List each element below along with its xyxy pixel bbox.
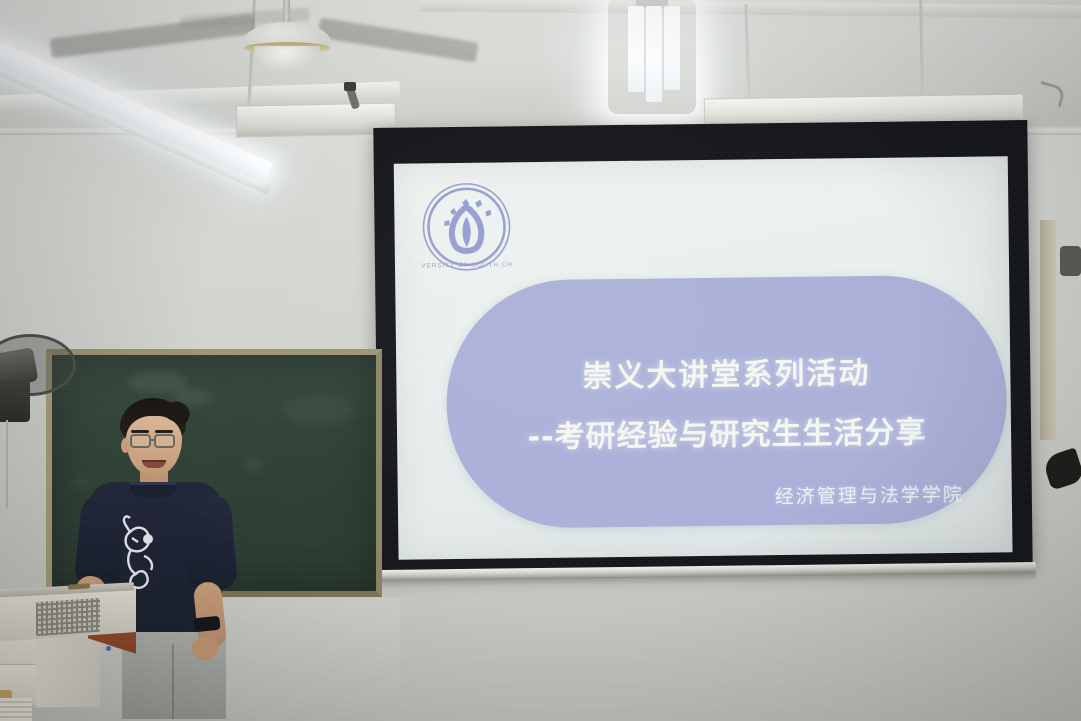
- projection-screen: UNIVERSITY OF SOUTH CHINA 崇义大讲堂系列活动 --考研…: [373, 120, 1032, 574]
- presenter-ear: [121, 438, 130, 453]
- presenter-sleeve: [182, 492, 238, 592]
- emblem-ring-text: UNIVERSITY OF SOUTH CHINA: [420, 261, 513, 269]
- lamp-tube: [646, 6, 662, 102]
- fan-pull-cord: [6, 420, 8, 508]
- lectern-podium: [0, 586, 146, 721]
- lecture-hall-photo: UNIVERSITY OF SOUTH CHINA 崇义大讲堂系列活动 --考研…: [0, 0, 1081, 721]
- presenter-eyebrow: [131, 430, 149, 433]
- fan-body: [0, 380, 30, 422]
- slide-title-pill: 崇义大讲堂系列活动 --考研经验与研究生生活分享 经济管理与法学学院: [445, 274, 1008, 529]
- podium-column: [36, 631, 100, 707]
- speaker-grille: [36, 598, 100, 636]
- wall-fixture: [1060, 246, 1081, 276]
- hanging-fluorescent-lamp: [622, 0, 682, 110]
- paper-stack: [0, 698, 32, 721]
- eyeglasses-lens: [154, 434, 175, 448]
- eyeglasses-bridge: [150, 439, 156, 441]
- slide-subtitle: --考研经验与研究生生活分享: [527, 407, 926, 456]
- tshirt-cartoon-print-icon: [118, 512, 164, 590]
- presentation-slide: UNIVERSITY OF SOUTH CHINA 崇义大讲堂系列活动 --考研…: [394, 156, 1013, 559]
- chalk-smudge: [282, 395, 356, 425]
- projector-screen-roller-housing: [236, 102, 397, 137]
- lamp-tube: [628, 6, 644, 92]
- presenter-collar: [130, 482, 176, 498]
- wall-mounted-fan: [0, 328, 80, 436]
- fan-down-rod: [283, 0, 290, 24]
- projection-screen-surface: UNIVERSITY OF SOUTH CHINA 崇义大讲堂系列活动 --考研…: [394, 156, 1013, 559]
- lamp-tube: [664, 6, 680, 90]
- slide-department: 经济管理与法学学院: [775, 480, 964, 509]
- slide-title: 崇义大讲堂系列活动: [582, 348, 871, 396]
- ceiling-fan: [140, 0, 440, 90]
- presenter-pants-seam: [172, 644, 174, 719]
- presenter-eyebrow: [155, 430, 173, 433]
- fan-dome: [254, 46, 320, 72]
- university-of-south-china-emblem-icon: UNIVERSITY OF SOUTH CHINA: [420, 180, 513, 273]
- wall-camera-icon: [344, 82, 356, 91]
- podium-indicator-light: [106, 646, 111, 651]
- wristwatch: [193, 616, 220, 633]
- wall-edge-trim: [1040, 220, 1056, 440]
- eyeglasses-lens: [130, 434, 151, 448]
